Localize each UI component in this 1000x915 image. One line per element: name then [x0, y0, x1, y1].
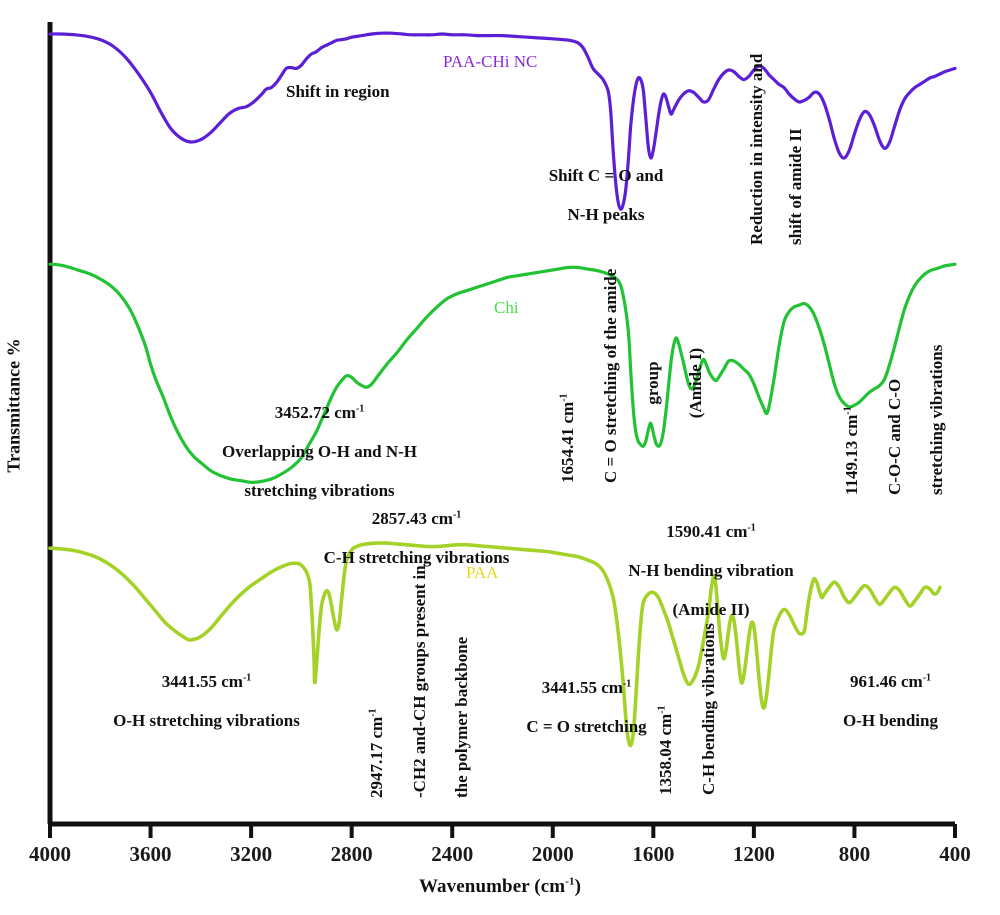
x-tick-label-1600: 1600: [632, 842, 674, 867]
x-tick-label-400: 400: [939, 842, 971, 867]
x-tick-label-4000: 4000: [29, 842, 71, 867]
anno-wavenumber: 3441.55 cm-1: [162, 672, 252, 691]
anno-wavenumber: 3452.72 cm-1: [275, 403, 365, 422]
annotation-paa-961: 961.46 cm-1 O-H bending: [792, 652, 972, 750]
anno-wavenumber: 2857.43 cm-1: [372, 509, 462, 528]
x-tick-label-3600: 3600: [130, 842, 172, 867]
annotation-paa-3441-oh: 3441.55 cm-1 O-H stretching vibrations: [63, 652, 333, 750]
x-tick-label-2000: 2000: [532, 842, 574, 867]
ftir-spectra-figure: 40003600320028002400200016001200800400 W…: [0, 0, 1000, 915]
anno-wavenumber: 2947.17 cm-1: [367, 708, 386, 798]
anno-wavenumber: 1654.41 cm-1: [558, 393, 577, 483]
x-tick-label-2800: 2800: [331, 842, 373, 867]
anno-wavenumber: 961.46 cm-1: [850, 672, 931, 691]
x-tick-label-3200: 3200: [230, 842, 272, 867]
annotation-shift-co-nh-peaks: Shift C = O and N-H peaks: [505, 146, 690, 244]
annotation-paa-1358: 1358.04 cm-1 C-H bending vibrations: [634, 632, 740, 812]
annotation-chi-1590: 1590.41 cm-1 N-H bending vibration (Amid…: [575, 502, 830, 639]
x-tick-label-2400: 2400: [431, 842, 473, 867]
x-axis-title: Wavenumber (cm-1): [0, 876, 1000, 898]
annotation-chi-1149: 1149.13 cm-1 C-O-C and C-O stretching vi…: [820, 332, 969, 512]
anno-wavenumber: 1149.13 cm-1: [842, 406, 861, 495]
annotation-paa-2947: 2947.17 cm-1 -CH2 and-CH groups present …: [345, 600, 494, 815]
anno-wavenumber: 3441.55 cm-1: [542, 678, 632, 697]
anno-wavenumber: 1358.04 cm-1: [656, 705, 675, 795]
y-axis-title: Transmittance %: [4, 306, 25, 506]
series-label-paa-chi-nc: PAA-CHi NC: [443, 52, 537, 72]
annotation-chi-1654: 1654.41 cm-1 C = O stretching of the ami…: [536, 300, 727, 500]
anno-wavenumber: 1590.41 cm-1: [666, 522, 756, 541]
annotation-shift-in-region: Shift in region: [286, 82, 390, 102]
annotation-chi-2857: 2857.43 cm-1 C-H stretching vibrations: [258, 489, 558, 587]
annotation-reduction-amide-ii: Reduction in intensity and shift of amid…: [727, 12, 825, 262]
x-tick-label-800: 800: [839, 842, 871, 867]
x-axis-title-text: Wavenumber (cm-1): [419, 876, 581, 897]
series-label-chi: Chi: [494, 298, 519, 318]
x-tick-label-1200: 1200: [733, 842, 775, 867]
